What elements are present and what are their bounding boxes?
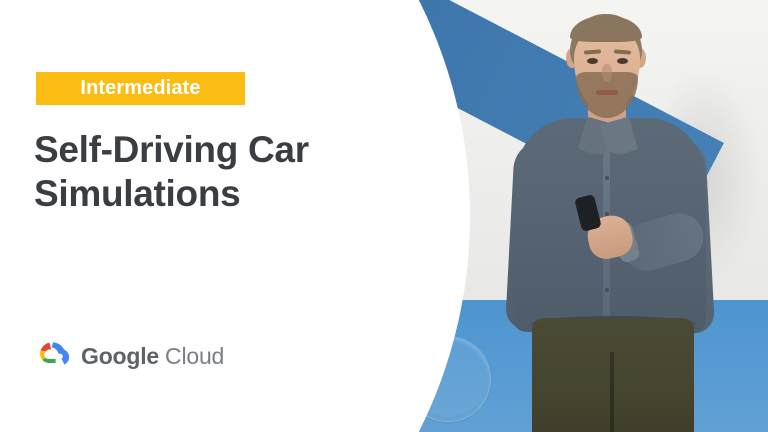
presenter-pants-seam [610,352,614,432]
presenter-shirt-button [605,288,609,292]
presenter [470,0,750,432]
presenter-nose [602,64,612,82]
page-title: Self-Driving Car Simulations [34,128,364,216]
google-cloud-logo-icon [34,340,70,372]
presenter-shirt-button [605,176,609,180]
presenter-eye-right [617,58,628,64]
presenter-eye-left [587,58,598,64]
video-thumbnail: Intermediate Self-Driving Car Simulation… [0,0,768,432]
difficulty-badge: Intermediate [36,72,245,105]
presenter-mouth [596,90,618,95]
presenter-hair-fringe [570,16,642,42]
page-title-line-2: Simulations [34,172,364,216]
title-content: Intermediate Self-Driving Car Simulation… [0,0,360,432]
google-cloud-logo: Google Cloud [34,340,224,372]
page-title-line-1: Self-Driving Car [34,128,364,172]
google-cloud-wordmark: Google Cloud [81,343,224,370]
wordmark-cloud: Cloud [165,343,224,370]
wordmark-google: Google [81,343,159,370]
